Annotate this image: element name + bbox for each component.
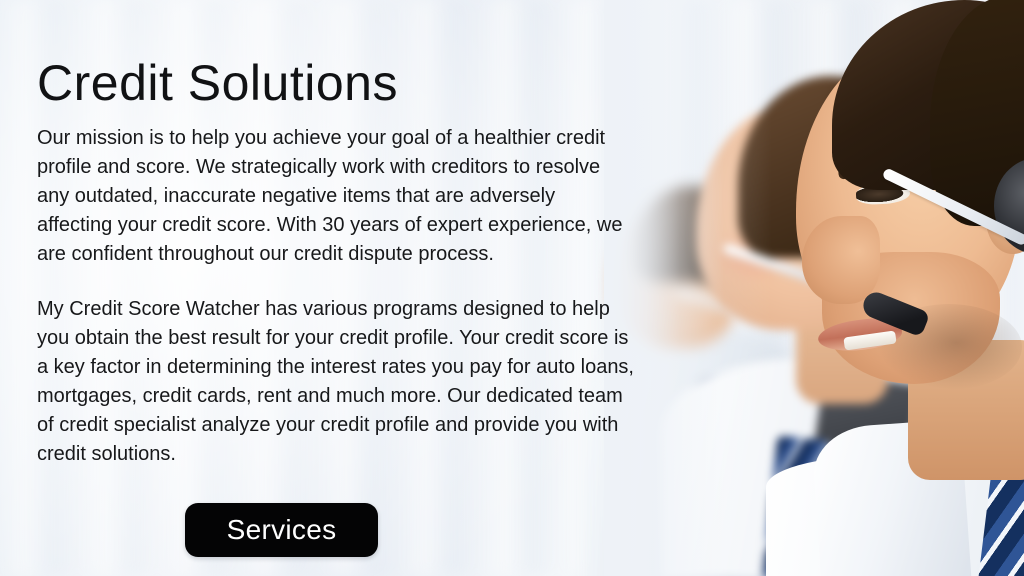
programs-paragraph: My Credit Score Watcher has various prog…: [37, 295, 635, 469]
photo-left-blend: [604, 0, 1024, 576]
text-column: Credit Solutions Our mission is to help …: [37, 56, 637, 469]
mission-paragraph: Our mission is to help you achieve your …: [37, 124, 635, 269]
cta-container: Services: [185, 503, 378, 557]
credit-solutions-slide: Credit Solutions Our mission is to help …: [0, 0, 1024, 576]
call-center-agents-photo: [604, 0, 1024, 576]
page-title: Credit Solutions: [37, 56, 637, 110]
services-button[interactable]: Services: [185, 503, 378, 557]
